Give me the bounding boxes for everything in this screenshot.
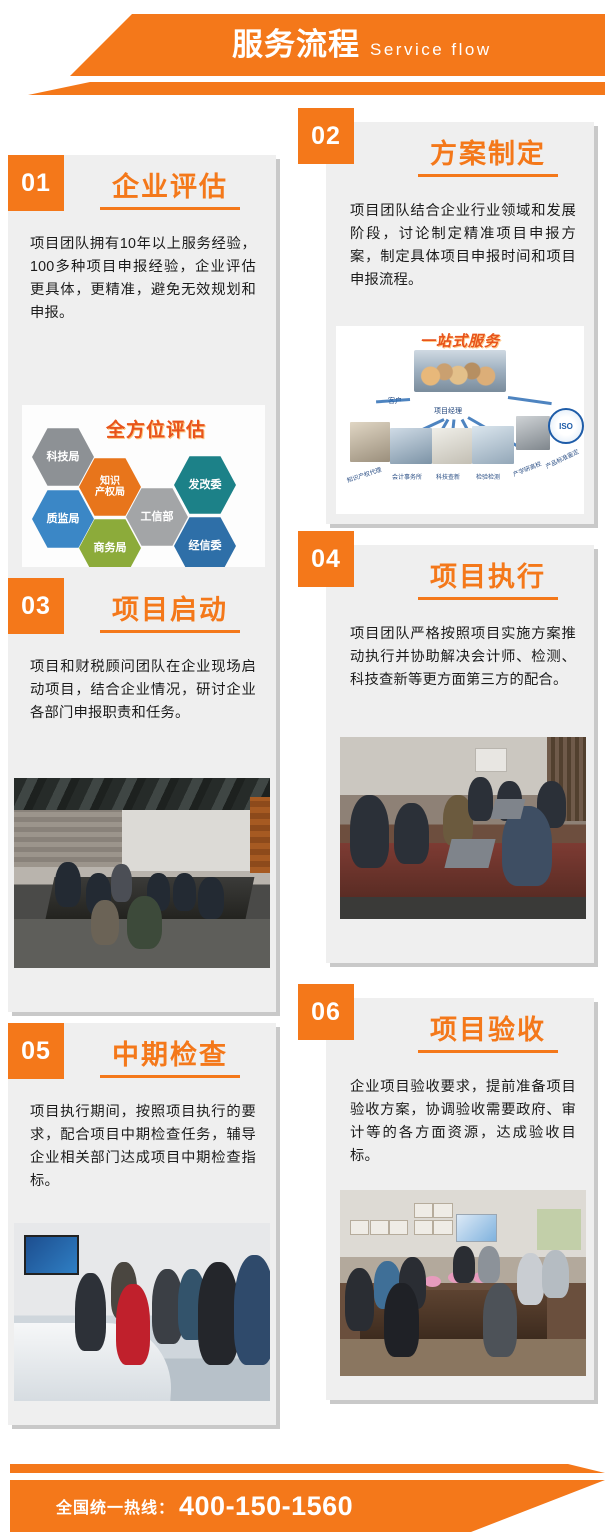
photo-person-red-coat bbox=[116, 1284, 149, 1366]
photo-person bbox=[468, 777, 493, 821]
photo-person bbox=[483, 1283, 517, 1357]
card-06[interactable]: 06 项目验收 企业项目验收要求，提前准备项目验收方案，协调验收需要政府、审计等… bbox=[298, 984, 598, 1404]
one-stop-diagram: 一站式服务 客户 项目经理 ISO 知识产权代理 会计事务所 bbox=[336, 326, 584, 514]
photo-wood-panel bbox=[250, 797, 270, 873]
photo-laptop bbox=[490, 799, 525, 819]
footer-hotline-number[interactable]: 400-150-1560 bbox=[179, 1491, 353, 1522]
card-01-text: 项目团队拥有10年以上服务经验，100多种项目申报经验，企业评估更具体，更精准，… bbox=[30, 233, 256, 326]
card-04-title: 项目执行 bbox=[388, 555, 588, 594]
one-stop-thumb-2 bbox=[432, 428, 472, 464]
hex-diagram: 全方位评估 科技局 质监局 知识 产权局 商务局 工信部 bbox=[22, 405, 265, 567]
service-flow-infographic: 服务流程 Service flow 01 企业评估 项目团队拥有10年以上服务经… bbox=[0, 0, 605, 1538]
card-04-text: 项目团队严格按照项目实施方案推动执行并协助解决会计师、检测、科技查新等更方面第三… bbox=[350, 623, 576, 692]
photo-certificate bbox=[414, 1203, 433, 1218]
photo-person bbox=[111, 864, 131, 902]
card-05[interactable]: 05 中期检查 项目执行期间，按照项目执行的要求，配合项目中期检查任务，辅导企业… bbox=[8, 1023, 284, 1433]
photo-person bbox=[91, 900, 119, 946]
photo-certificate bbox=[370, 1220, 389, 1235]
card-03-title-rule bbox=[100, 630, 240, 633]
footer-hotline-label: 全国统一热线： bbox=[56, 1494, 175, 1518]
card-04-number-badge: 04 bbox=[298, 531, 354, 587]
one-stop-node-manager: 项目经理 bbox=[434, 406, 462, 416]
card-03[interactable]: 03 项目启动 项目和财税顾问团队在企业现场启动项目，结合企业情况，研讨企业各部… bbox=[8, 578, 284, 1020]
photo-certificate bbox=[389, 1220, 408, 1235]
hex-node-2-label: 发改委 bbox=[189, 479, 222, 491]
footer-orange-stripe bbox=[10, 1464, 605, 1473]
photo-certificate bbox=[414, 1220, 433, 1235]
card-01-title-rule bbox=[100, 207, 240, 210]
photo-brick-wall bbox=[14, 810, 122, 867]
photo-projection-screen bbox=[456, 1214, 497, 1242]
card-01-number-badge: 01 bbox=[8, 155, 64, 211]
header-title-group: 服务流程 Service flow bbox=[232, 22, 492, 73]
photo-person bbox=[75, 1273, 106, 1351]
photo-meeting-room: photo-meeting-room bbox=[14, 778, 270, 968]
one-stop-caption-3: 检验检测 bbox=[476, 472, 500, 481]
card-03-number-badge: 03 bbox=[8, 578, 64, 634]
one-stop-title: 一站式服务 bbox=[336, 330, 584, 351]
card-01[interactable]: 01 企业评估 项目团队拥有10年以上服务经验，100多种项目申报经验，企业评估… bbox=[8, 155, 284, 593]
photo-flower bbox=[424, 1276, 441, 1287]
hex-diagram-title: 全方位评估 bbox=[106, 415, 206, 442]
card-02-title: 方案制定 bbox=[388, 132, 588, 171]
one-stop-thumb-1 bbox=[390, 428, 432, 464]
one-stop-caption-1: 会计事务所 bbox=[392, 472, 422, 481]
iso-seal-icon: ISO bbox=[548, 408, 584, 444]
card-06-title-rule bbox=[418, 1050, 558, 1053]
card-02-text: 项目团队结合企业行业领域和发展阶段，讨论制定精准项目申报方案，制定具体项目申报时… bbox=[350, 200, 576, 293]
card-06-number-badge: 06 bbox=[298, 984, 354, 1040]
photo-person bbox=[478, 1246, 500, 1283]
card-03-title: 项目启动 bbox=[70, 588, 270, 627]
photo-person bbox=[55, 862, 81, 908]
card-05-text: 项目执行期间，按照项目执行的要求，配合项目中期检查任务，辅导企业相关部门达成项目… bbox=[30, 1101, 256, 1194]
hex-node-6-label: 经信委 bbox=[189, 540, 222, 552]
photo-person bbox=[234, 1255, 270, 1365]
footer-hotline-group: 全国统一热线： 400-150-1560 bbox=[56, 1480, 353, 1532]
one-stop-caption-4: 产学研高校 bbox=[511, 459, 542, 479]
one-stop-thumb-3 bbox=[472, 426, 514, 464]
card-05-title: 中期检查 bbox=[70, 1033, 270, 1072]
one-stop-caption-2: 科技查新 bbox=[436, 472, 460, 481]
card-02-number-badge: 02 bbox=[298, 108, 354, 164]
hex-node-0-label: 科技局 bbox=[47, 451, 80, 463]
photo-person bbox=[453, 1246, 475, 1283]
photo-person bbox=[198, 877, 224, 919]
photo-working-session: photo-working-session bbox=[340, 737, 586, 919]
photo-person-green-jacket bbox=[127, 896, 163, 949]
one-stop-thumb-0 bbox=[350, 422, 390, 462]
one-stop-caption-0: 知识产权代理 bbox=[345, 465, 382, 485]
hex-node-3-label: 质监局 bbox=[47, 513, 80, 525]
hex-node-5-label: 商务局 bbox=[94, 542, 127, 554]
card-02[interactable]: 02 方案制定 项目团队结合企业行业领域和发展阶段，讨论制定精准项目申报方案，制… bbox=[298, 108, 598, 528]
photo-large-meeting: photo-large-meeting bbox=[340, 1190, 586, 1376]
card-02-title-rule bbox=[418, 174, 558, 177]
photo-certificate bbox=[350, 1220, 369, 1235]
hex-node-2: 发改委 bbox=[174, 455, 236, 515]
photo-person bbox=[517, 1253, 544, 1305]
photo-person bbox=[350, 795, 389, 868]
photo-green-panel bbox=[537, 1209, 581, 1250]
photo-ac-unit bbox=[475, 748, 507, 772]
one-stop-hero-photo bbox=[414, 350, 506, 392]
photo-person bbox=[173, 873, 196, 911]
card-06-text: 企业项目验收要求，提前准备项目验收方案，协调验收需要政府、审计等的各方面资源，达… bbox=[350, 1076, 576, 1169]
card-05-number-badge: 05 bbox=[8, 1023, 64, 1079]
hex-node-1-label: 知识 产权局 bbox=[95, 476, 125, 498]
card-04-title-rule bbox=[418, 597, 558, 600]
one-stop-caption-5: 产品标准鉴定 bbox=[544, 447, 580, 471]
header-orange-stripe bbox=[0, 82, 605, 95]
card-06-title: 项目验收 bbox=[388, 1008, 588, 1047]
photo-person bbox=[394, 803, 428, 865]
photo-showroom-visit: photo-showroom-visit bbox=[14, 1223, 270, 1401]
page-subtitle: Service flow bbox=[370, 27, 492, 73]
page-footer: 全国统一热线： 400-150-1560 bbox=[0, 1420, 605, 1538]
photo-ceiling bbox=[14, 778, 270, 810]
one-stop-arrow-6 bbox=[508, 396, 552, 405]
page-title: 服务流程 bbox=[232, 22, 360, 68]
photo-certificate bbox=[433, 1203, 452, 1218]
photo-person bbox=[198, 1262, 239, 1365]
card-04[interactable]: 04 项目执行 项目团队严格按照项目实施方案推动执行并协助解决会计师、检测、科技… bbox=[298, 531, 598, 967]
photo-display-screen bbox=[24, 1235, 79, 1275]
card-03-text: 项目和财税顾问团队在企业现场启动项目，结合企业情况，研讨企业各部门申报职责和任务… bbox=[30, 656, 256, 725]
card-01-title: 企业评估 bbox=[70, 165, 270, 204]
photo-certificate bbox=[433, 1220, 452, 1235]
photo-laptop bbox=[445, 839, 497, 868]
photo-wall bbox=[122, 810, 250, 871]
photo-person bbox=[542, 1250, 569, 1298]
hex-node-4-label: 工信部 bbox=[141, 511, 174, 523]
photo-person bbox=[345, 1268, 375, 1331]
page-header: 服务流程 Service flow bbox=[0, 0, 605, 110]
card-05-title-rule bbox=[100, 1075, 240, 1078]
photo-person bbox=[384, 1283, 418, 1357]
one-stop-thumb-4 bbox=[516, 416, 550, 450]
